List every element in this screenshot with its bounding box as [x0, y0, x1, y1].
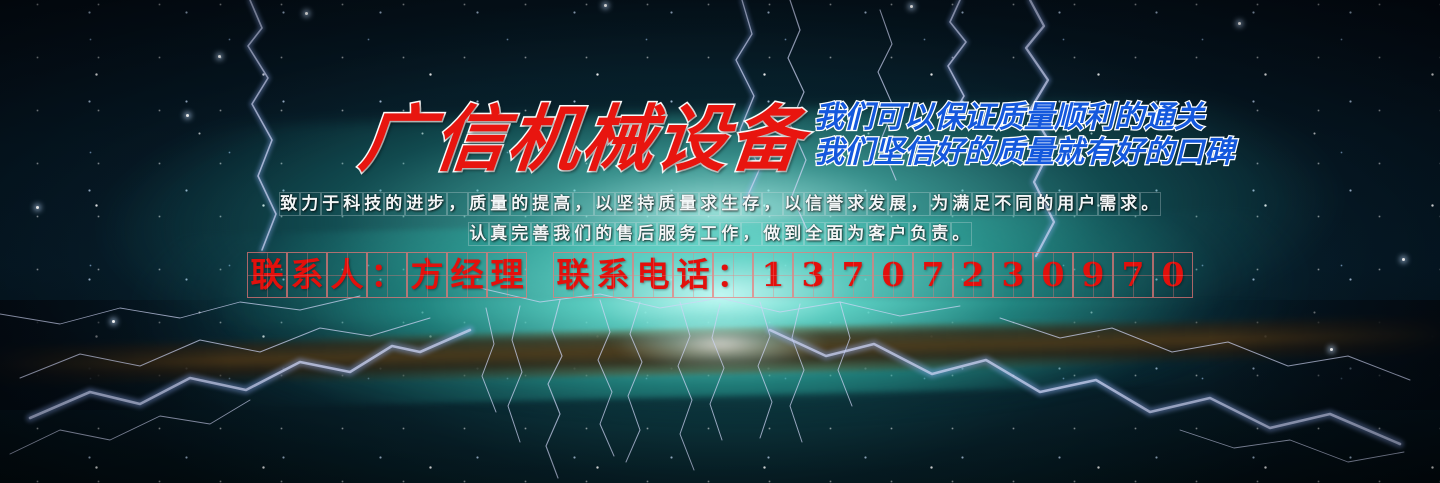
grid-char: 求: [699, 192, 720, 216]
grid-char: 责: [930, 222, 951, 246]
grid-char: ，: [741, 222, 762, 246]
grid-char: 质: [468, 192, 489, 216]
grid-char: ：: [713, 252, 753, 298]
grid-char: 到: [783, 222, 804, 246]
grid-char: 面: [825, 222, 846, 246]
grid-char: 坚: [615, 192, 636, 216]
contact-phone-number[interactable]: 13707230970: [753, 255, 1193, 294]
grid-char: 质: [657, 192, 678, 216]
grid-char: 服: [657, 222, 678, 246]
grid-char: 9: [1073, 252, 1113, 298]
grid-char: 系: [287, 252, 327, 298]
grid-char: 。: [951, 222, 972, 246]
grid-char: 进: [405, 192, 426, 216]
grid-char: 作: [720, 222, 741, 246]
grid-char: 做: [762, 222, 783, 246]
grid-char: 求: [846, 192, 867, 216]
grid-char: 经: [447, 252, 487, 298]
grid-char: 理: [487, 252, 527, 298]
brand-title: 广信机械设备: [356, 103, 808, 175]
grid-char: 系: [593, 252, 633, 298]
contact-phone-label: 联系电话：: [553, 255, 753, 294]
grid-char: 话: [673, 252, 713, 298]
grid-char: 完: [510, 222, 531, 246]
contact-person-label: 联系人：: [247, 255, 407, 294]
grid-char: 认: [468, 222, 489, 246]
grid-char: 0: [873, 252, 913, 298]
grid-char: ，: [762, 192, 783, 216]
grid-char: 户: [888, 222, 909, 246]
grid-char: 客: [867, 222, 888, 246]
description-line-1: 致力于科技的进步，质量的提高，以坚持质量求生存，以信誉求发展，为满足不同的用户需…: [0, 192, 1440, 216]
grid-char: 满: [951, 192, 972, 216]
grid-char: 7: [1113, 252, 1153, 298]
grid-char: 发: [867, 192, 888, 216]
grid-char: 售: [615, 222, 636, 246]
grid-char: 力: [300, 192, 321, 216]
grid-char: 7: [913, 252, 953, 298]
grid-char: 步: [426, 192, 447, 216]
grid-char: 7: [833, 252, 873, 298]
grid-char: 0: [1033, 252, 1073, 298]
grid-char: 户: [1077, 192, 1098, 216]
slogan-stack: 我们可以保证质量顺利的通关 我们坚信好的质量就有好的口碑: [814, 100, 1234, 171]
grid-char: 们: [573, 222, 594, 246]
grid-char: ，: [573, 192, 594, 216]
grid-char: 同: [1014, 192, 1035, 216]
grid-char: 联: [247, 252, 287, 298]
grid-char: 以: [783, 192, 804, 216]
grid-char: 联: [553, 252, 593, 298]
grid-char: 生: [720, 192, 741, 216]
grid-char: 致: [279, 192, 300, 216]
grid-char: 工: [699, 222, 720, 246]
grid-char: 科: [342, 192, 363, 216]
grid-char: 电: [633, 252, 673, 298]
grid-char: 求: [1119, 192, 1140, 216]
grid-char: 负: [909, 222, 930, 246]
grid-char: 于: [321, 192, 342, 216]
grid-char: ：: [367, 252, 407, 298]
description-line-2: 认真完善我们的售后服务工作，做到全面为客户负责。: [0, 222, 1440, 246]
grid-char: 誉: [825, 192, 846, 216]
slogan-line-1: 我们可以保证质量顺利的通关: [814, 100, 1234, 135]
grid-char: 。: [1140, 192, 1161, 216]
grid-char: 方: [407, 252, 447, 298]
slogan-line-2: 我们坚信好的质量就有好的口碑: [814, 135, 1234, 170]
grid-char: 以: [594, 192, 615, 216]
grid-char: 量: [678, 192, 699, 216]
grid-char: 足: [972, 192, 993, 216]
contact-person-name: 方经理: [407, 255, 527, 294]
grid-char: 的: [384, 192, 405, 216]
grid-char: 不: [993, 192, 1014, 216]
grid-char: 量: [489, 192, 510, 216]
grid-char: 2: [953, 252, 993, 298]
grid-char: 持: [636, 192, 657, 216]
grid-char: 真: [489, 222, 510, 246]
grid-char: 1: [753, 252, 793, 298]
grid-char: 3: [993, 252, 1033, 298]
grid-char: 0: [1153, 252, 1193, 298]
grid-char: 我: [552, 222, 573, 246]
grid-char: 为: [930, 192, 951, 216]
grid-char: 善: [531, 222, 552, 246]
grid-char: 展: [888, 192, 909, 216]
grid-char: ，: [447, 192, 468, 216]
grid-char: 需: [1098, 192, 1119, 216]
grid-char: 3: [793, 252, 833, 298]
grid-char: 提: [531, 192, 552, 216]
promo-banner: 广信机械设备 我们可以保证质量顺利的通关 我们坚信好的质量就有好的口碑 致力于科…: [0, 0, 1440, 483]
grid-char: 高: [552, 192, 573, 216]
contact-line: 联系人：方经理联系电话：13707230970: [0, 252, 1440, 298]
grid-char: 为: [846, 222, 867, 246]
grid-char: 存: [741, 192, 762, 216]
grid-char: 用: [1056, 192, 1077, 216]
grid-char: 的: [1035, 192, 1056, 216]
grid-char: 全: [804, 222, 825, 246]
grid-char: 的: [510, 192, 531, 216]
grid-char: ，: [909, 192, 930, 216]
title-row: 广信机械设备 我们可以保证质量顺利的通关 我们坚信好的质量就有好的口碑: [360, 100, 1234, 175]
grid-char: 人: [327, 252, 367, 298]
banner-content: 广信机械设备 我们可以保证质量顺利的通关 我们坚信好的质量就有好的口碑 致力于科…: [0, 0, 1440, 483]
grid-char: 的: [594, 222, 615, 246]
grid-char: 后: [636, 222, 657, 246]
grid-char: 务: [678, 222, 699, 246]
grid-char: 信: [804, 192, 825, 216]
grid-char: 技: [363, 192, 384, 216]
